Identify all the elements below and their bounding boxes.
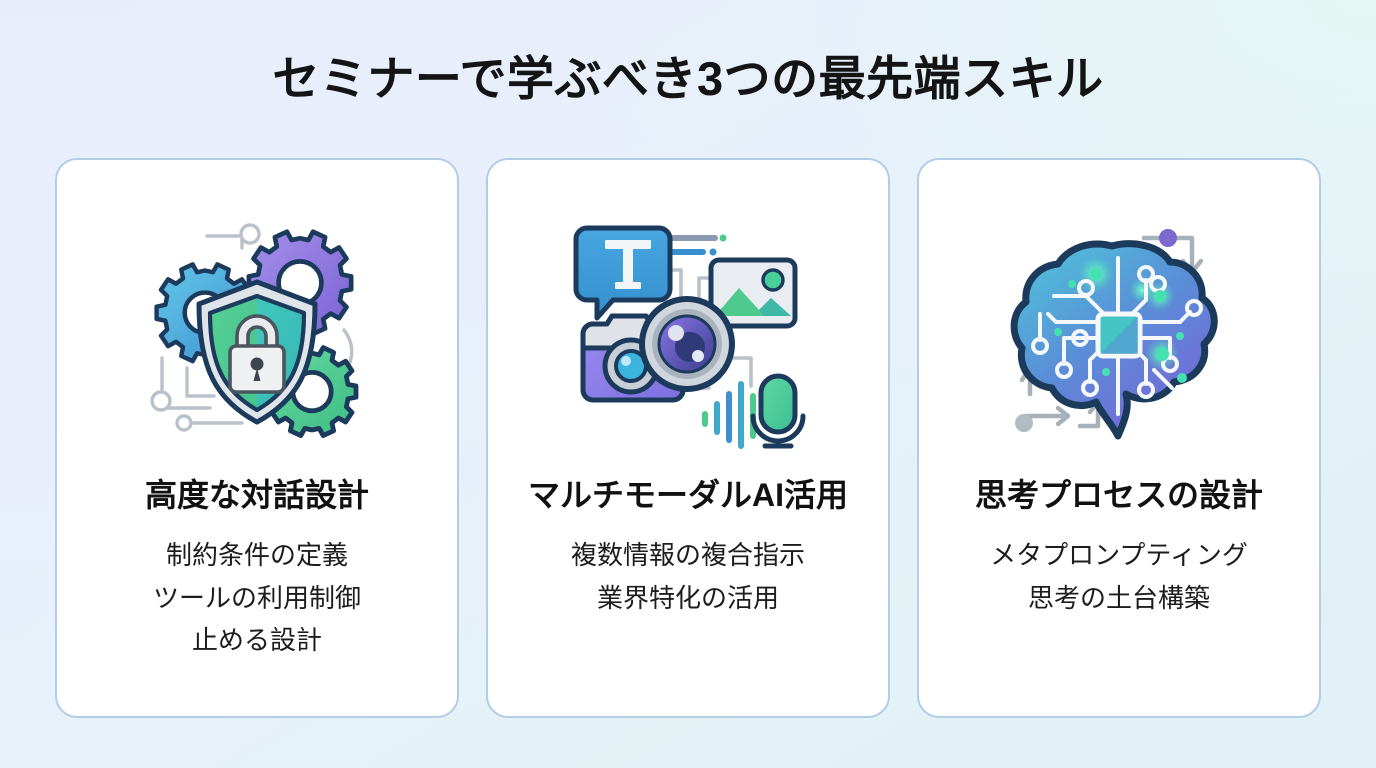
card-body-lines: 制約条件の定義 ツールの利用制御 止める設計 (153, 534, 361, 660)
cards-row: 高度な対話設計 制約条件の定義 ツールの利用制御 止める設計 (55, 158, 1321, 718)
card-line: ツールの利用制御 (153, 577, 361, 619)
card-thinking-process-design[interactable]: 思考プロセスの設計 メタプロンプティング 思考の土台構築 (917, 158, 1321, 718)
card-line: 思考の土台構築 (990, 577, 1248, 619)
slide: セミナーで学ぶべき3つの最先端スキル (0, 0, 1376, 768)
card-line: メタプロンプティング (990, 534, 1248, 576)
multimodal-media-icon (563, 218, 813, 450)
card-heading: 高度な対話設計 (145, 476, 369, 514)
brain-circuit-icon (994, 218, 1244, 450)
card-advanced-dialogue-design[interactable]: 高度な対話設計 制約条件の定義 ツールの利用制御 止める設計 (55, 158, 459, 718)
card-body-lines: メタプロンプティング 思考の土台構築 (990, 534, 1248, 618)
card-heading: マルチモーダルAI活用 (528, 476, 848, 514)
card-heading: 思考プロセスの設計 (975, 476, 1263, 514)
card-multimodal-ai[interactable]: マルチモーダルAI活用 複数情報の複合指示 業界特化の活用 (486, 158, 890, 718)
card-line: 複数情報の複合指示 (571, 534, 805, 576)
card-line: 止める設計 (153, 619, 361, 661)
page-title: セミナーで学ぶべき3つの最先端スキル (272, 52, 1103, 106)
card-line: 業界特化の活用 (571, 577, 805, 619)
card-line: 制約条件の定義 (153, 534, 361, 576)
card-body-lines: 複数情報の複合指示 業界特化の活用 (571, 534, 805, 618)
gears-shield-lock-icon (132, 218, 382, 450)
